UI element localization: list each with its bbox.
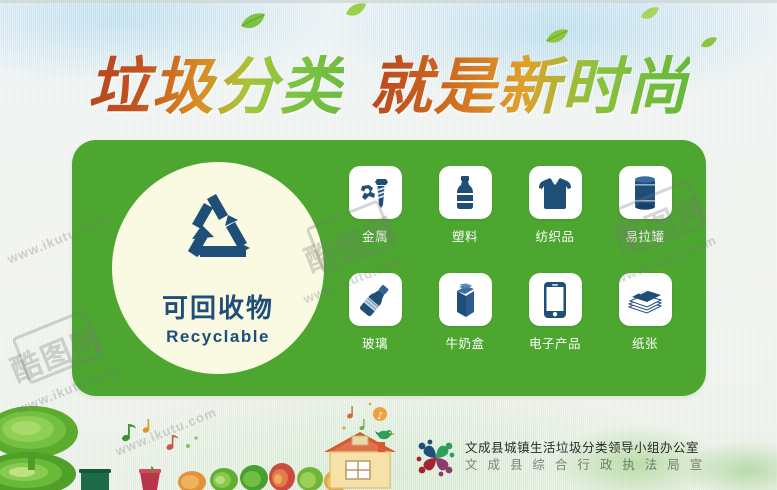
shirt-icon	[537, 176, 573, 210]
category-item[interactable]: 电子产品	[510, 273, 600, 372]
category-grid: 金属 塑料	[330, 166, 690, 372]
title-part-2: 就是新时尚	[370, 47, 690, 127]
badge-label-cn: 可回收物	[162, 288, 274, 325]
glass-bottle-icon	[356, 282, 394, 318]
category-label: 电子产品	[529, 333, 581, 352]
leaf-icon	[345, 2, 367, 19]
category-item[interactable]: 纸张	[600, 273, 690, 372]
footer-line-1: 文成县城镇生活垃圾分类领导小组办公室	[465, 439, 705, 456]
category-item[interactable]: 塑料	[420, 166, 510, 265]
plastic-bottle-icon	[448, 175, 482, 211]
category-card[interactable]	[349, 166, 402, 219]
category-label: 塑料	[452, 226, 478, 245]
category-item[interactable]: 牛奶盒	[420, 273, 510, 372]
leaf-icon	[240, 12, 266, 32]
smartphone-icon	[543, 281, 567, 319]
recycle-triangle-arrows-icon	[162, 184, 274, 284]
category-label: 易拉罐	[625, 226, 664, 245]
leaf-icon	[545, 28, 569, 46]
trash-bin-icon	[78, 468, 112, 490]
category-card[interactable]	[529, 273, 582, 326]
leaf-icon	[640, 6, 660, 22]
category-item[interactable]: 金属	[330, 166, 420, 265]
recyclable-badge: 可回收物 Recyclable	[112, 162, 324, 374]
category-label: 金属	[362, 226, 388, 245]
category-item[interactable]: 易拉罐	[600, 166, 690, 265]
title-part-1: 垃圾分类	[87, 47, 343, 127]
music-notes-icon	[118, 416, 208, 462]
category-card[interactable]	[349, 273, 402, 326]
category-card[interactable]	[439, 273, 492, 326]
recyclable-panel: 可回收物 Recyclable	[72, 140, 706, 396]
page-title: 垃圾分类就是新时尚	[0, 47, 777, 127]
footer-credit: 文成县城镇生活垃圾分类领导小组办公室 文 成 县 综 合 行 政 执 法 局 宣	[416, 436, 756, 484]
badge-label-en: Recyclable	[166, 327, 270, 347]
category-item[interactable]: 纺织品	[510, 166, 600, 265]
category-card[interactable]	[439, 166, 492, 219]
milk-carton-icon	[450, 282, 480, 318]
category-label: 纸张	[632, 333, 658, 352]
beverage-can-icon	[631, 175, 659, 211]
cottage-house-icon	[322, 430, 398, 490]
category-label: 牛奶盒	[445, 333, 484, 352]
poster-canvas: 垃圾分类就是新时尚	[0, 0, 777, 490]
four-petal-clover-logo-icon	[416, 438, 456, 478]
top-edge-band	[0, 0, 777, 3]
category-label: 纺织品	[535, 226, 574, 245]
bird-icon	[375, 430, 396, 439]
category-label: 玻璃	[362, 333, 388, 352]
footer-line-2: 文 成 县 综 合 行 政 执 法 局 宣	[465, 456, 705, 473]
screw-wrench-icon	[358, 176, 392, 210]
category-card[interactable]	[619, 166, 672, 219]
cup-icon	[137, 466, 163, 490]
category-card[interactable]	[529, 166, 582, 219]
category-card[interactable]	[619, 273, 672, 326]
svg-text:♪: ♪	[377, 411, 383, 422]
paper-stack-icon	[626, 285, 664, 315]
category-item[interactable]: 玻璃	[330, 273, 420, 372]
